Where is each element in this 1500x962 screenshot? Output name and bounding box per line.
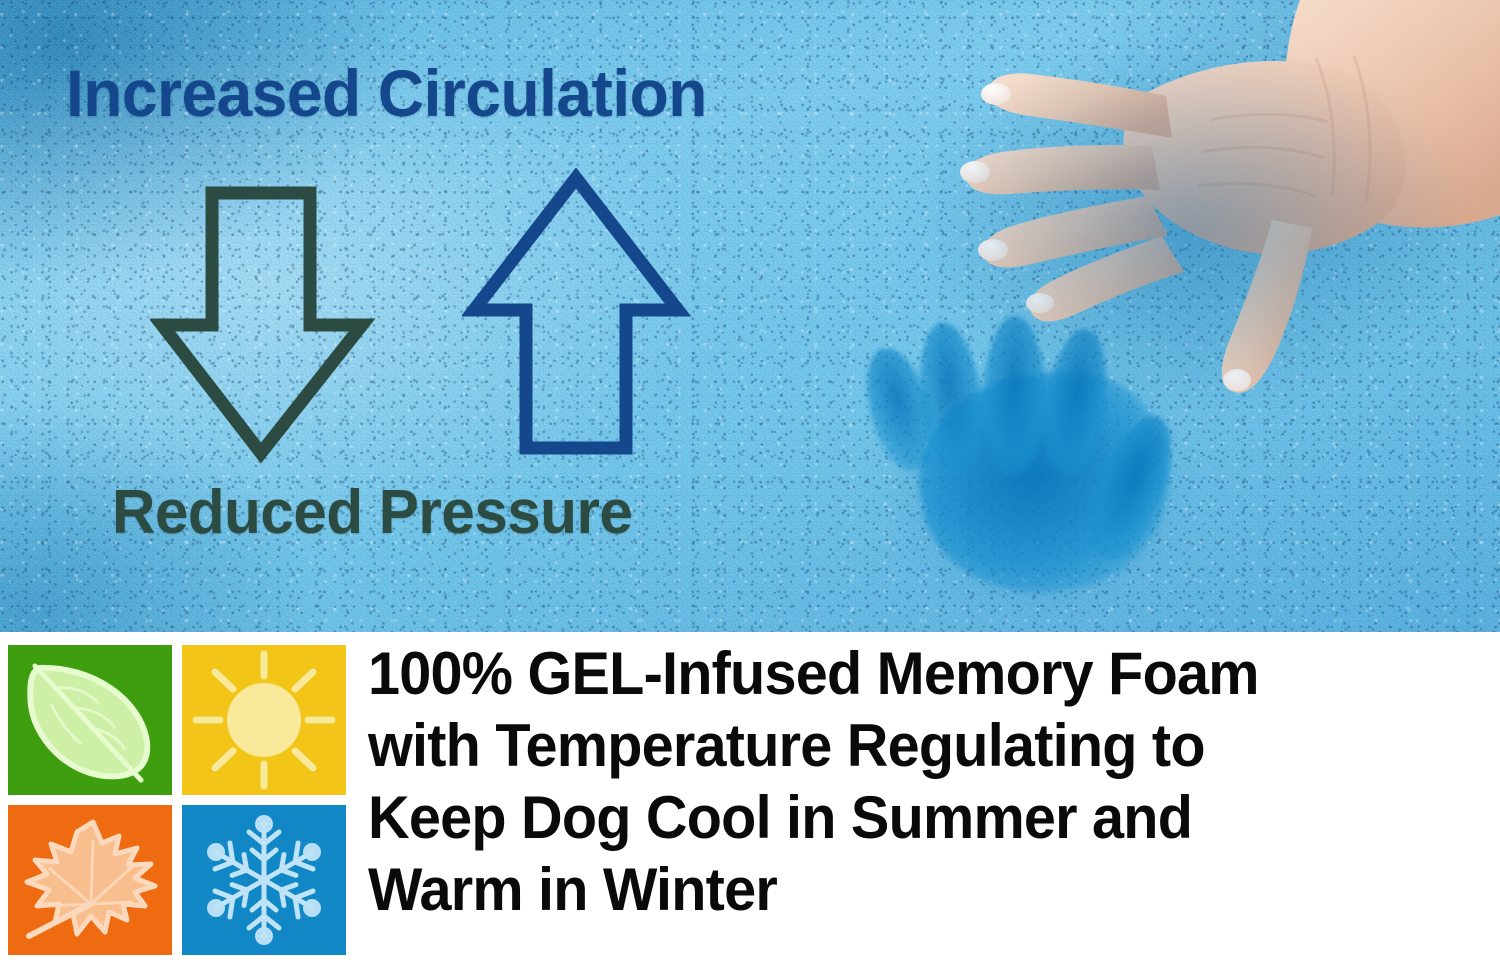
leaf-icon bbox=[15, 650, 165, 790]
season-tile-summer bbox=[182, 645, 346, 795]
increased-circulation-label: Increased Circulation bbox=[66, 60, 707, 126]
season-tile-winter bbox=[182, 805, 346, 955]
season-tile-autumn bbox=[8, 805, 172, 955]
season-tile-grid bbox=[8, 645, 346, 958]
headline-line-4: Warm in Winter bbox=[368, 854, 1451, 926]
maple-leaf-icon bbox=[15, 810, 165, 950]
headline-line-1: 100% GEL-Infused Memory Foam bbox=[368, 638, 1451, 710]
headline-line-3: Keep Dog Cool in Summer and bbox=[368, 782, 1451, 854]
reduced-pressure-label: Reduced Pressure bbox=[112, 482, 632, 544]
snowflake-icon bbox=[189, 810, 339, 950]
hand-drop-shadow bbox=[910, 40, 1450, 400]
foam-photo-panel: Increased Circulation Reduced Pressure bbox=[0, 0, 1500, 632]
feature-panel: 100% GEL-Infused Memory Foam with Temper… bbox=[0, 632, 1500, 962]
hand-photo bbox=[880, 0, 1500, 440]
arrow-up-icon bbox=[462, 168, 692, 458]
arrow-down-icon bbox=[150, 185, 380, 465]
headline-line-2: with Temperature Regulating to bbox=[368, 710, 1451, 782]
season-tile-spring bbox=[8, 645, 172, 795]
headline-text: 100% GEL-Infused Memory Foam with Temper… bbox=[368, 638, 1451, 926]
product-infographic: Increased Circulation Reduced Pressure bbox=[0, 0, 1500, 962]
sun-icon bbox=[189, 650, 339, 790]
